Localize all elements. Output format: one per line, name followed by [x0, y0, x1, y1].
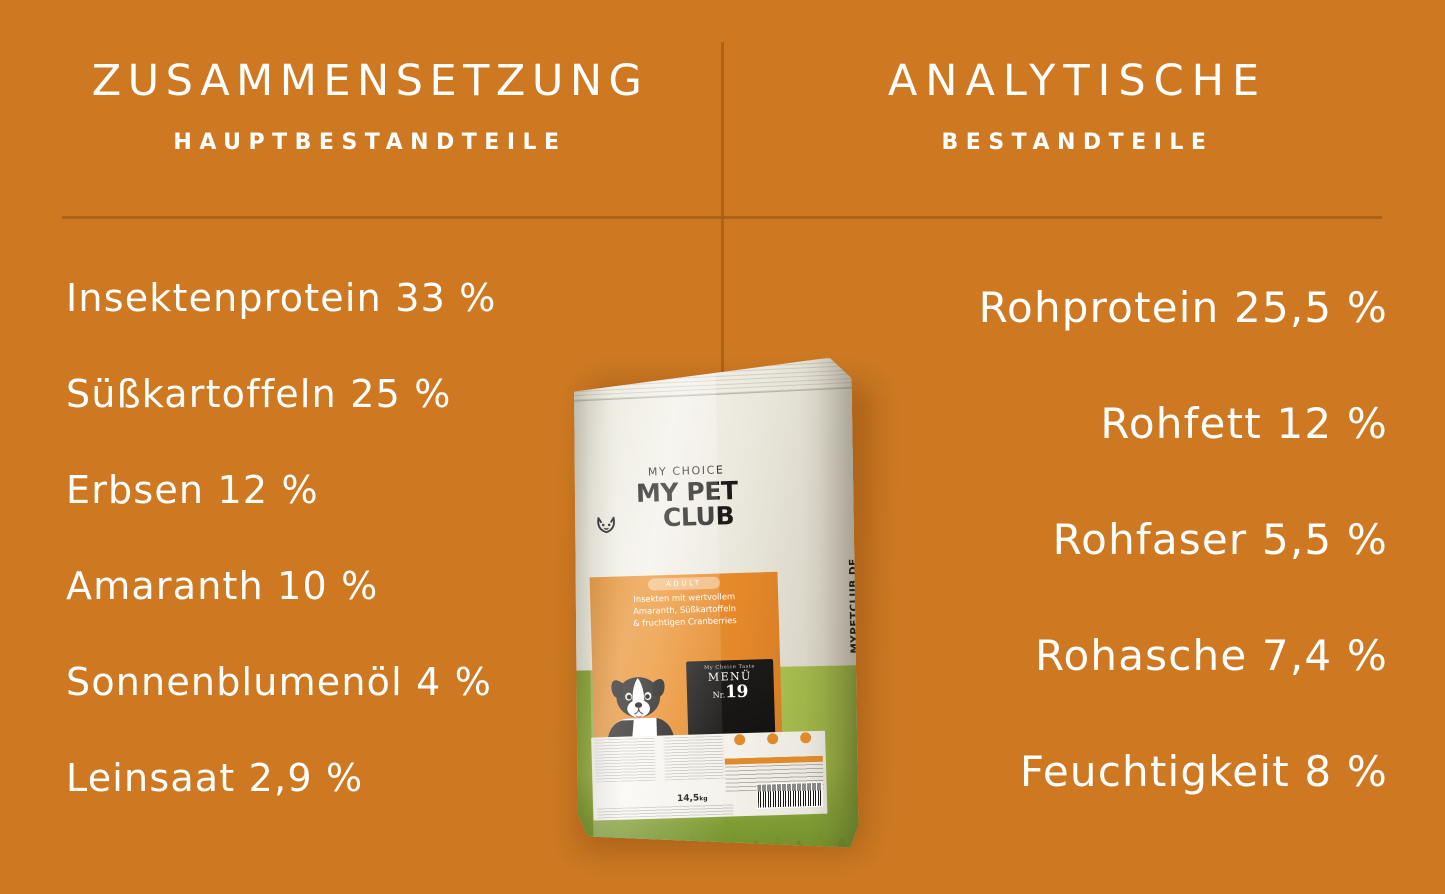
bag-menu-number: Nr.19: [686, 681, 773, 702]
analytical-constituents-list: Rohprotein 25,5 % Rohfett 12 % Rohfaser …: [840, 250, 1388, 830]
barcode-icon: [757, 781, 823, 808]
bag-brand-line-2: CLUB: [593, 502, 782, 532]
product-bag-image: MY CHOICE MY PET CLUB ADULT Insekten mit…: [566, 352, 876, 862]
bag-net-weight-unit: kg: [699, 795, 708, 802]
list-item: Erbsen 12 %: [66, 442, 626, 538]
left-column-title: ZUSAMMENSETZUNG: [30, 58, 710, 104]
feature-icon-1: [734, 734, 745, 745]
dog-face-icon: [595, 516, 616, 534]
feature-icon-3: [801, 732, 812, 743]
list-item: Süßkartoffeln 25 %: [66, 346, 626, 442]
list-item: Leinsaat 2,9 %: [66, 730, 626, 826]
left-column-subtitle: HAUPTBESTANDTEILE: [30, 130, 710, 155]
vertical-divider: [721, 42, 724, 372]
bag-feature-icons: [724, 731, 823, 755]
horizontal-divider: [62, 216, 1382, 219]
list-item: Rohfaser 5,5 %: [840, 482, 1388, 598]
bag-address-text: [597, 804, 733, 818]
list-item: Feuchtigkeit 8 %: [840, 714, 1388, 830]
list-item: Insektenprotein 33 %: [66, 250, 626, 346]
left-column-header: ZUSAMMENSETZUNG HAUPTBESTANDTEILE: [30, 58, 710, 155]
list-item: Rohfett 12 %: [840, 366, 1388, 482]
right-column-title: ANALYTISCHE: [740, 58, 1415, 104]
bag-net-weight-value: 14,5: [677, 793, 700, 804]
composition-list: Insektenprotein 33 % Süßkartoffeln 25 % …: [66, 250, 626, 826]
bag-menu-number-value: 19: [724, 681, 747, 702]
list-item: Rohprotein 25,5 %: [840, 250, 1388, 366]
bag-net-weight: 14,5kg: [677, 793, 708, 804]
bag-body: MY CHOICE MY PET CLUB ADULT Insekten mit…: [567, 353, 862, 858]
bag-info-panel: 14,5kg: [591, 730, 827, 819]
bag-brand-block: MY CHOICE MY PET CLUB: [592, 461, 782, 532]
list-item: Sonnenblumenöl 4 %: [66, 634, 626, 730]
feature-icon-2: [767, 733, 778, 744]
bag-front-label: ADULT Insekten mit wertvollem Amaranth, …: [589, 571, 782, 752]
right-column-header: ANALYTISCHE BESTANDTEILE: [740, 58, 1415, 155]
right-column-subtitle: BESTANDTEILE: [740, 130, 1415, 155]
bag-claim-text: Insekten mit wertvollem Amaranth, Süßkar…: [594, 588, 775, 630]
list-item: Rohasche 7,4 %: [840, 598, 1388, 714]
list-item: Amaranth 10 %: [66, 538, 626, 634]
bag-lifestage-badge: ADULT: [647, 576, 719, 590]
infographic-canvas: ZUSAMMENSETZUNG HAUPTBESTANDTEILE ANALYT…: [0, 0, 1445, 894]
bag-menu-number-prefix: Nr.: [712, 690, 725, 699]
